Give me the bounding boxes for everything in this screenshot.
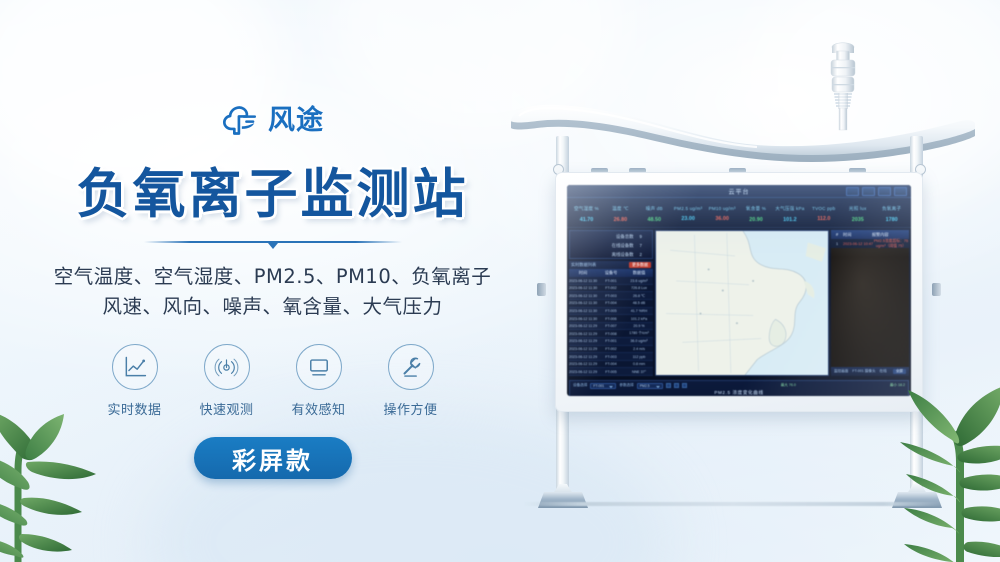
alert-column-header: 报警内容 — [851, 232, 909, 238]
table-cell: 1780 个/cm³ — [625, 331, 653, 336]
table-cell: 41.7 %RH — [625, 309, 653, 313]
kpi-row: 空气湿度 %41.70温度 ℃26.80噪声 dB48.50PM2.5 ug/m… — [567, 198, 911, 228]
dashboard-right-column: #时间报警内容 12023-06-12 10:47PM2.5浓度超标：76 ug… — [831, 230, 909, 376]
table-cell: 2023-06-12 11:30:12 — [569, 301, 597, 305]
china-region-map[interactable] — [655, 230, 829, 376]
alert-cell: PM2.5浓度超标：76 ug/m³（阈值 75） — [873, 239, 909, 249]
title-divider — [144, 241, 402, 249]
kpi-cell: 噪声 dB48.50 — [638, 201, 671, 227]
kpi-label: 温度 ℃ — [604, 206, 637, 212]
stat-line: 在线设备数7 — [570, 240, 652, 249]
kpi-label: PM2.5 ug/m³ — [672, 206, 705, 211]
table-cell: 726.8 Lux — [625, 286, 653, 290]
table-cell: 2023-06-12 11:30:01 — [569, 317, 597, 321]
kpi-label: 光照 lux — [841, 206, 874, 212]
chart-tool-icon[interactable] — [666, 383, 671, 388]
table-row[interactable]: 2023-06-12 11:30:01FT-006101.2 kPa — [569, 315, 653, 323]
foliage-right — [848, 366, 1000, 562]
table-cell: 20.9 % — [625, 324, 653, 328]
stat-line: 设备总数9 — [570, 231, 652, 240]
kpi-label: 负氧离子 — [875, 206, 908, 212]
tile-icon[interactable] — [878, 187, 891, 196]
table-cell: 2023-06-12 11:29:55 — [569, 324, 597, 328]
brand-name: 风途 — [268, 106, 324, 136]
kpi-value: 20.90 — [740, 217, 773, 223]
table-more-badge[interactable]: 更多数据 — [629, 262, 651, 268]
kpi-value: 101.2 — [773, 217, 806, 223]
table-cell: 26.8 ℃ — [625, 294, 653, 298]
kpi-label: 大气压强 kPa — [773, 206, 806, 212]
kpi-cell: 氧含量 %20.90 — [740, 201, 773, 227]
table-cell: FT-003 — [597, 294, 625, 298]
table-row[interactable]: 2023-06-12 11:30:12FT-00448.5 dB — [569, 300, 653, 308]
table-cell: FT-004 — [597, 301, 625, 305]
wave-canopy — [505, 98, 977, 168]
dashboard-body: 设备总数9在线设备数7离线设备数2 实时数据列表 更多数据 时间设备号数据值 2… — [567, 228, 911, 378]
stat-value: 7 — [640, 243, 642, 249]
table-cell: 2023-06-12 11:29:26 — [569, 355, 597, 359]
table-row[interactable]: 2023-06-12 11:30:08FT-00541.7 %RH — [569, 308, 653, 316]
table-body: 2023-06-12 11:30:27FT-00123.6 ug/m³2023-… — [569, 277, 653, 376]
chart-tool-icon[interactable] — [674, 383, 679, 388]
kpi-cell: 温度 ℃26.80 — [604, 201, 637, 227]
table-cell: 2023-06-12 11:29:19 — [569, 362, 597, 366]
realtime-table-panel: 实时数据列表 更多数据 时间设备号数据值 2023-06-12 11:30:27… — [569, 261, 653, 376]
kpi-value: 23.00 — [672, 216, 705, 222]
table-cell: FT-005 — [597, 370, 625, 374]
alert-row[interactable]: 12023-06-12 10:47PM2.5浓度超标：76 ug/m³（阈值 7… — [831, 239, 909, 248]
param-select-label: 参数选择 — [619, 383, 633, 388]
table-cell: 2023-06-12 11:29:40 — [569, 339, 597, 343]
table-panel-title: 实时数据列表 — [571, 262, 596, 268]
feature-label: 操作方便 — [383, 399, 437, 418]
foliage-left — [0, 378, 144, 562]
feature-item-effective-sensing[interactable]: 有效感知 — [288, 344, 350, 418]
feature-label: 有效感知 — [291, 399, 345, 418]
table-cell: 36.0 ug/m³ — [625, 339, 653, 343]
chart-max-label: 最大 76.0 — [781, 383, 796, 388]
table-row[interactable]: 2023-06-12 11:29:11FT-005NNE 37° — [569, 368, 653, 376]
wrench-icon — [388, 344, 434, 390]
table-row[interactable]: 2023-06-12 11:29:40FT-00136.0 ug/m³ — [569, 338, 653, 346]
spec-line-1: 空气温度、空气湿度、PM2.5、PM10、负氧离子 — [54, 262, 492, 292]
table-row[interactable]: 2023-06-12 11:29:33FT-0022.4 m/s — [569, 346, 653, 354]
param-select[interactable]: PM2.5 — [637, 383, 663, 389]
chart-tool-icon[interactable] — [682, 383, 687, 388]
table-cell: 2023-06-12 11:29:11 — [569, 370, 597, 374]
tile-icon[interactable] — [846, 187, 859, 196]
dashboard-screen[interactable]: 云平台 空气湿度 %41.70温度 ℃26.80噪声 dB48.50PM2.5 … — [567, 185, 911, 396]
table-cell: FT-002 — [597, 286, 625, 290]
device-stats-box: 设备总数9在线设备数7离线设备数2 — [569, 230, 653, 259]
table-row[interactable]: 2023-06-12 11:30:27FT-00123.6 ug/m³ — [569, 277, 653, 285]
table-cell: 0.8 mm — [625, 362, 653, 366]
device-select[interactable]: FT-001 — [590, 383, 616, 389]
brand-logo: 风途 — [221, 104, 324, 138]
table-row[interactable]: 2023-06-12 11:29:26FT-003112 ppb — [569, 353, 653, 361]
cloud-f-logo-icon — [221, 106, 261, 136]
alert-body: 12023-06-12 10:47PM2.5浓度超标：76 ug/m³（阈值 7… — [831, 239, 909, 248]
kpi-value: 2035 — [841, 217, 874, 223]
dashboard-top-tiles — [846, 187, 907, 196]
table-cell: 2023-06-12 11:29:33 — [569, 347, 597, 351]
radar-sensor-icon — [204, 344, 250, 390]
kpi-value: 26.80 — [604, 217, 637, 223]
stat-value: 2 — [640, 252, 642, 258]
divider-triangle-icon — [268, 243, 278, 249]
alert-cell: 2023-06-12 10:47 — [843, 242, 873, 246]
feature-item-easy-operation[interactable]: 操作方便 — [380, 344, 442, 418]
camera-status-text: 监控画面 — [834, 369, 848, 374]
kpi-cell: 空气湿度 %41.70 — [570, 201, 603, 227]
tile-icon[interactable] — [894, 187, 907, 196]
feature-row: 实时数据 快速观测 — [104, 344, 442, 418]
feature-label: 快速观测 — [199, 399, 253, 418]
kpi-label: PM10 ug/m³ — [706, 206, 739, 211]
side-bracket-right — [932, 283, 941, 296]
kpi-cell: PM2.5 ug/m³23.00 — [672, 201, 705, 227]
promo-banner: 风途 负氧离子监测站 空气温度、空气湿度、PM2.5、PM10、负氧离子 风速、… — [0, 0, 1000, 562]
stat-value: 9 — [640, 234, 642, 240]
kpi-label: TVOC ppb — [807, 206, 840, 211]
table-cell: 2023-06-12 11:30:27 — [569, 279, 597, 283]
kpi-cell: 负氧离子1780 — [875, 201, 908, 227]
table-cell: 2023-06-12 11:30:21 — [569, 286, 597, 290]
kpi-label: 噪声 dB — [638, 206, 671, 212]
page-title: 负氧离子监测站 — [77, 152, 469, 228]
table-cell: 2023-06-12 11:30:08 — [569, 309, 597, 313]
table-cell: 112 ppb — [625, 355, 653, 359]
kpi-cell: 光照 lux2035 — [841, 201, 874, 227]
table-cell: FT-001 — [597, 339, 625, 343]
feature-item-fast-observation[interactable]: 快速观测 — [196, 344, 258, 418]
table-cell: FT-006 — [597, 317, 625, 321]
table-row[interactable]: 2023-06-12 11:30:18FT-00326.8 ℃ — [569, 292, 653, 300]
table-cell: FT-007 — [597, 324, 625, 328]
device-select-label: 设备选择 — [573, 383, 587, 388]
stat-line: 离线设备数2 — [570, 249, 652, 258]
table-row[interactable]: 2023-06-12 11:29:19FT-0040.8 mm — [569, 361, 653, 369]
kpi-cell: 大气压强 kPa101.2 — [773, 201, 806, 227]
side-bracket-left — [537, 283, 546, 296]
table-cell: 2023-06-12 11:29:48 — [569, 332, 597, 336]
color-screen-model-button[interactable]: 彩屏款 — [194, 437, 352, 479]
table-cell: FT-008 — [597, 332, 625, 336]
alert-column-header: # — [831, 232, 843, 237]
kpi-value: 1780 — [875, 217, 908, 223]
alert-column-header: 时间 — [843, 232, 851, 238]
table-cell: FT-002 — [597, 347, 625, 351]
stat-label: 在线设备数 — [612, 243, 634, 249]
kpi-value: 112.0 — [807, 216, 840, 222]
table-header-row: 时间设备号数据值 — [569, 269, 653, 277]
table-cell: 101.2 kPa — [625, 317, 653, 321]
kpi-label: 空气湿度 % — [570, 206, 603, 212]
kpi-value: 36.00 — [706, 216, 739, 222]
kpi-value: 48.50 — [638, 217, 671, 223]
table-column-header: 设备号 — [597, 270, 625, 276]
dashboard-left-column: 设备总数9在线设备数7离线设备数2 实时数据列表 更多数据 时间设备号数据值 2… — [569, 230, 653, 376]
table-panel-header: 实时数据列表 更多数据 — [569, 261, 653, 269]
table-cell: 2.4 m/s — [625, 347, 653, 351]
table-cell: NNE 37° — [625, 370, 653, 374]
table-cell: 23.6 ug/m³ — [625, 279, 653, 283]
camera-feed[interactable] — [831, 248, 909, 367]
kpi-value: 41.70 — [570, 217, 603, 223]
stat-label: 离线设备数 — [612, 252, 634, 258]
table-column-header: 数据值 — [625, 270, 653, 276]
spec-line-2: 风速、风向、噪声、氧含量、大气压力 — [54, 292, 492, 322]
table-row[interactable]: 2023-06-12 11:29:48FT-0081780 个/cm³ — [569, 330, 653, 338]
table-row[interactable]: 2023-06-12 11:30:21FT-002726.8 Lux — [569, 285, 653, 293]
alert-cell: 1 — [831, 242, 843, 246]
tile-icon[interactable] — [862, 187, 875, 196]
select-value: FT-001 — [593, 384, 604, 388]
table-cell: 2023-06-12 11:30:18 — [569, 294, 597, 298]
table-cell: FT-005 — [597, 309, 625, 313]
table-cell: FT-004 — [597, 362, 625, 366]
table-column-header: 时间 — [569, 270, 597, 276]
kpi-cell: TVOC ppb112.0 — [807, 201, 840, 227]
select-value: PM2.5 — [640, 384, 650, 388]
table-cell: 48.5 dB — [625, 301, 653, 305]
kpi-cell: PM10 ug/m³36.00 — [706, 201, 739, 227]
dashboard-titlebar: 云平台 — [567, 185, 911, 198]
stat-label: 设备总数 — [616, 234, 634, 240]
table-cell: FT-001 — [597, 279, 625, 283]
table-cell: FT-003 — [597, 355, 625, 359]
spec-list: 空气温度、空气湿度、PM2.5、PM10、负氧离子 风速、风向、噪声、氧含量、大… — [54, 262, 492, 322]
monitor-icon — [296, 344, 342, 390]
kpi-label: 氧含量 % — [740, 206, 773, 212]
table-row[interactable]: 2023-06-12 11:29:55FT-00720.9 % — [569, 323, 653, 331]
